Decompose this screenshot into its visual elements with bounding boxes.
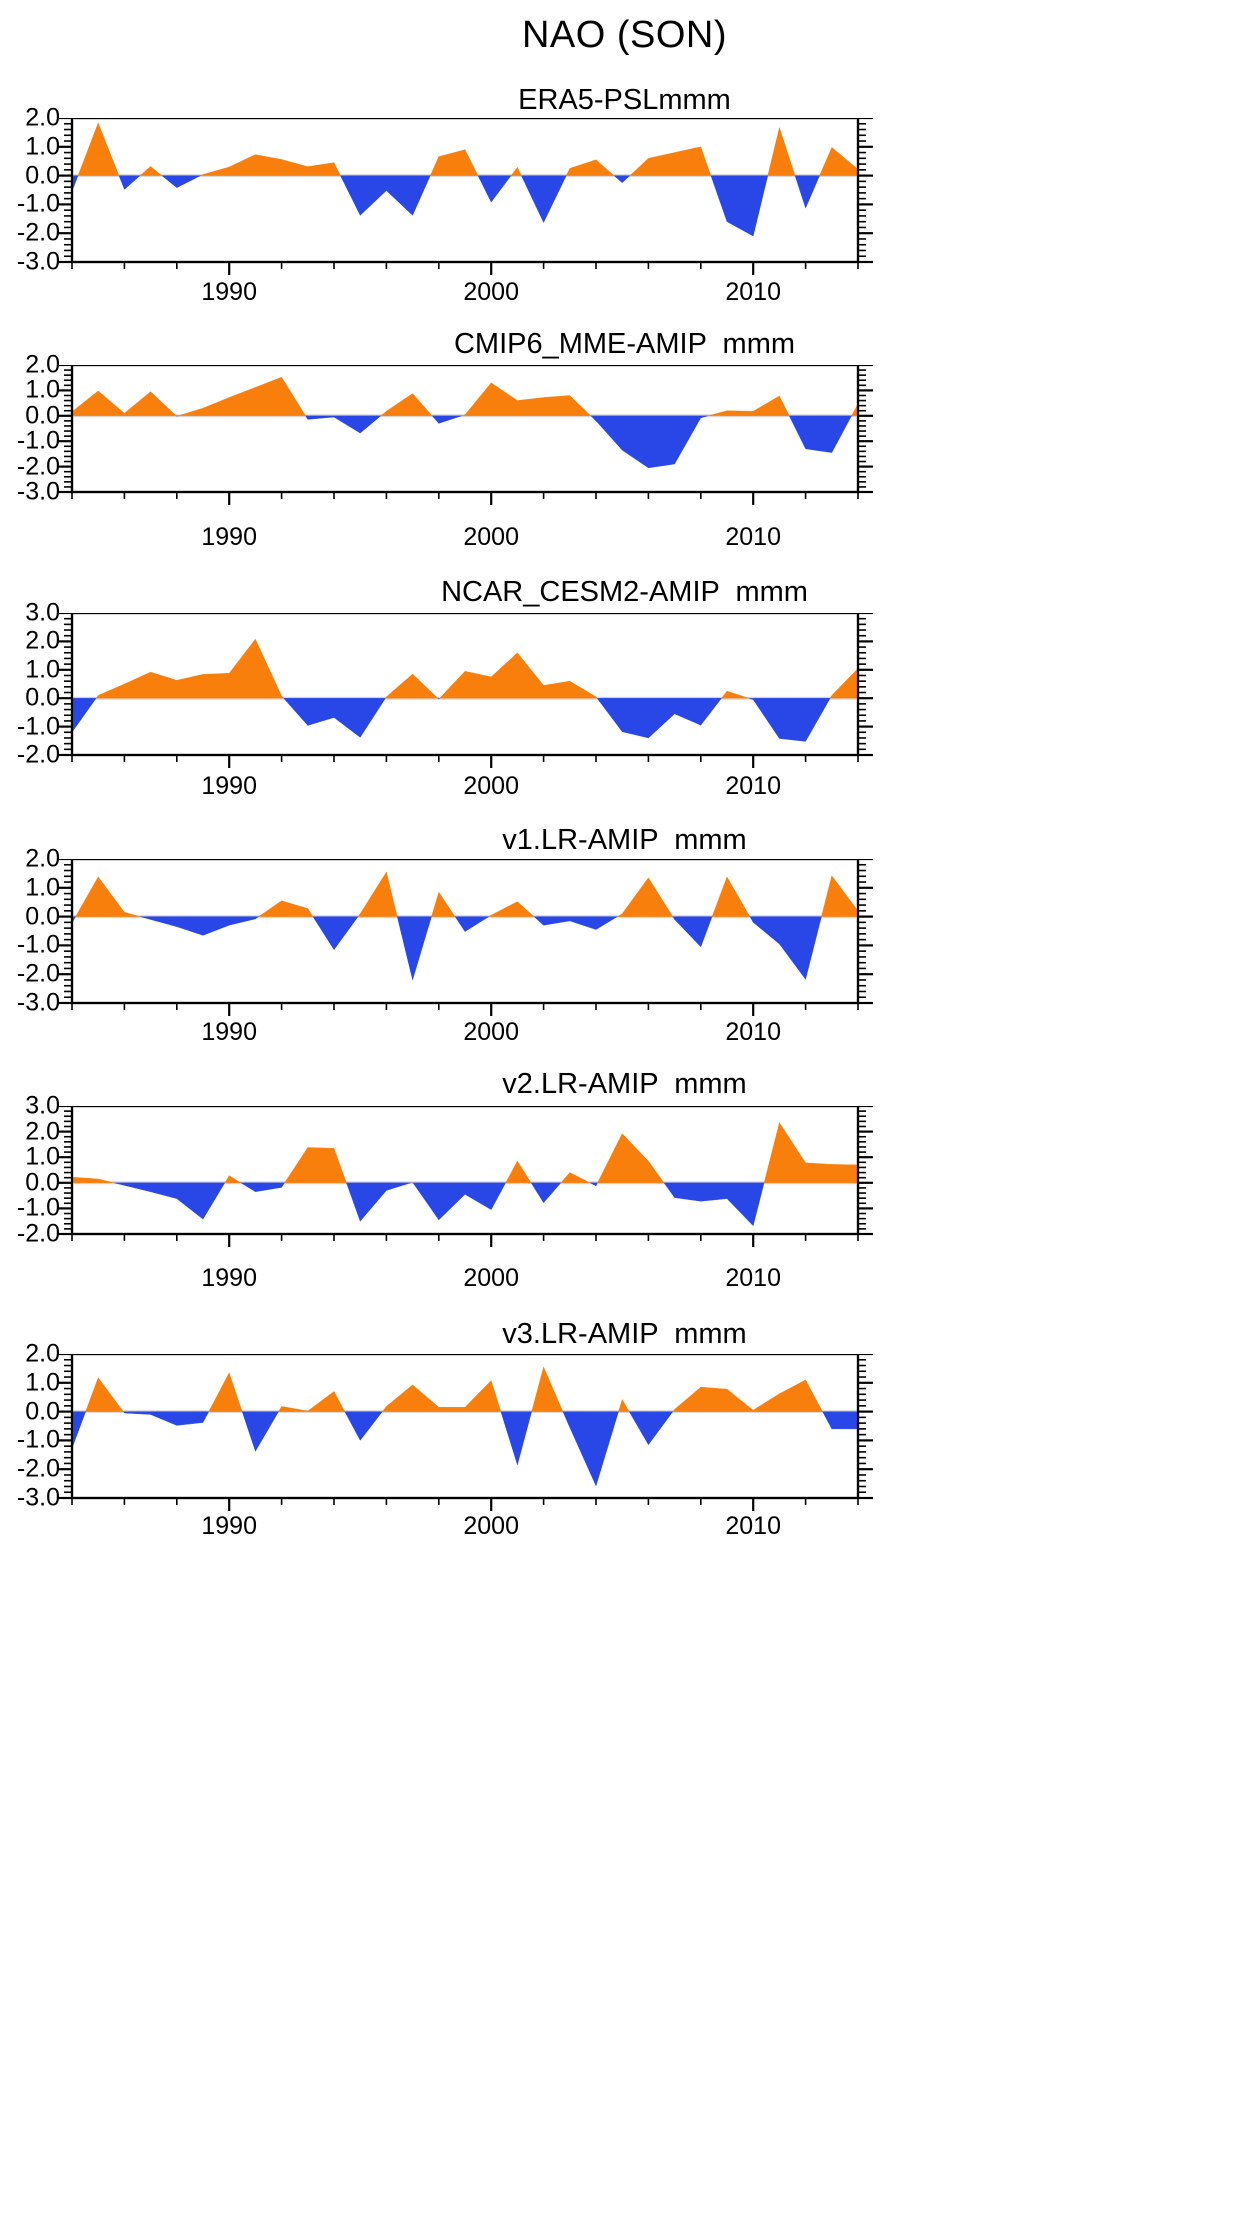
plot-area — [0, 118, 1249, 292]
negative-area — [664, 1183, 764, 1226]
plot-wrapper — [0, 1354, 1249, 1528]
positive-area — [381, 393, 432, 415]
plot-wrapper — [0, 859, 1249, 1033]
positive-area — [382, 1381, 500, 1412]
plot-area — [0, 365, 1249, 522]
plot-frame — [72, 365, 858, 492]
figure-title: NAO (SON) — [0, 14, 1249, 57]
plot-area — [0, 613, 1249, 785]
negative-area — [597, 698, 721, 738]
positive-area — [820, 147, 858, 175]
negative-area — [534, 917, 617, 930]
positive-area — [385, 674, 437, 698]
positive-area — [358, 872, 397, 917]
negative-area — [241, 1183, 285, 1192]
negative-area — [614, 176, 630, 183]
panel-title: NCAR_CESM2-AMIP mmm — [0, 576, 1249, 609]
positive-area — [178, 377, 305, 416]
panel-title: ERA5-PSLmmm — [0, 84, 1249, 117]
x-axis-tick-label: 1990 — [201, 523, 257, 552]
positive-area — [430, 150, 478, 176]
positive-area — [86, 1378, 124, 1412]
x-axis-tick-label: 2000 — [463, 1264, 519, 1293]
negative-area — [673, 917, 712, 947]
x-axis-tick-label: 1990 — [201, 1264, 257, 1293]
negative-area — [749, 698, 830, 741]
negative-area — [501, 1412, 532, 1465]
negative-area — [590, 1183, 598, 1186]
negative-area — [521, 176, 566, 223]
plot-area — [0, 1106, 1249, 1264]
plot-frame-top — [72, 1354, 858, 1498]
plot-frame-top — [72, 1106, 858, 1234]
negative-area — [823, 1412, 858, 1429]
plot-area — [0, 1354, 1249, 1528]
negative-area — [789, 416, 851, 453]
negative-area — [478, 176, 511, 203]
negative-area — [242, 1412, 278, 1452]
positive-area — [78, 123, 119, 176]
positive-area — [561, 1173, 590, 1183]
plot-wrapper — [0, 118, 1249, 292]
plot-wrapper — [0, 1106, 1249, 1264]
negative-area — [563, 1412, 619, 1486]
positive-area — [532, 1367, 563, 1412]
negative-area — [711, 176, 768, 236]
x-axis-tick-label: 2000 — [463, 523, 519, 552]
figure-root: NAO (SON) ERA5-PSLmmm2.01.00.0-1.0-2.0-3… — [0, 0, 1249, 2229]
negative-area — [750, 917, 822, 980]
negative-area — [795, 176, 820, 209]
plot-frame — [72, 1354, 858, 1498]
positive-area — [630, 147, 711, 176]
negative-area — [72, 698, 96, 732]
panel-title: v3.LR-AMIP mmm — [0, 1318, 1249, 1351]
negative-area — [432, 416, 462, 424]
positive-area — [140, 166, 162, 175]
positive-area — [462, 383, 591, 416]
positive-area — [225, 1176, 241, 1183]
panel-title: CMIP6_MME-AMIP mmm — [0, 328, 1249, 361]
plot-wrapper — [0, 613, 1249, 785]
positive-area — [821, 876, 858, 917]
plot-frame-top — [72, 365, 858, 492]
plot-area — [0, 859, 1249, 1033]
positive-area — [617, 878, 672, 917]
plot-frame — [72, 1106, 858, 1234]
panel-title: v2.LR-AMIP mmm — [0, 1068, 1249, 1101]
negative-area — [162, 176, 201, 188]
positive-area — [259, 901, 313, 917]
negative-area — [346, 1183, 411, 1221]
negative-area — [123, 1412, 208, 1426]
positive-area — [768, 128, 795, 176]
negative-area — [531, 1183, 561, 1203]
negative-area — [413, 1183, 506, 1220]
negative-area — [455, 917, 489, 932]
x-axis-tick-label: 2010 — [725, 1264, 781, 1293]
positive-area — [511, 167, 521, 175]
positive-area — [96, 639, 283, 698]
negative-area — [591, 416, 709, 468]
positive-area — [285, 1147, 347, 1182]
x-axis-tick-label: 2010 — [725, 523, 781, 552]
positive-area — [598, 1134, 664, 1183]
negative-area — [313, 917, 358, 950]
negative-area — [629, 1412, 673, 1445]
positive-area — [201, 155, 341, 176]
positive-area — [506, 1161, 531, 1183]
positive-area — [72, 391, 176, 416]
positive-area — [619, 1400, 630, 1412]
negative-area — [114, 1183, 225, 1219]
negative-area — [397, 917, 431, 980]
positive-area — [440, 653, 597, 698]
positive-area — [764, 1123, 858, 1183]
positive-area — [673, 1380, 823, 1412]
positive-area — [209, 1373, 242, 1412]
negative-area — [345, 1412, 383, 1441]
negative-area — [72, 1412, 86, 1449]
positive-area — [432, 892, 456, 916]
negative-area — [340, 176, 430, 216]
negative-area — [119, 176, 140, 190]
positive-area — [489, 902, 534, 917]
positive-area — [76, 877, 141, 917]
negative-area — [306, 416, 381, 433]
positive-area — [722, 691, 749, 698]
plot-wrapper — [0, 365, 1249, 522]
positive-area — [830, 668, 858, 698]
negative-area — [284, 698, 386, 737]
positive-area — [708, 396, 789, 416]
positive-area — [712, 877, 750, 917]
negative-area — [140, 917, 259, 936]
positive-area — [566, 160, 614, 176]
positive-area — [279, 1391, 345, 1411]
positive-area — [72, 1177, 114, 1183]
panel-title: v1.LR-AMIP mmm — [0, 824, 1249, 857]
